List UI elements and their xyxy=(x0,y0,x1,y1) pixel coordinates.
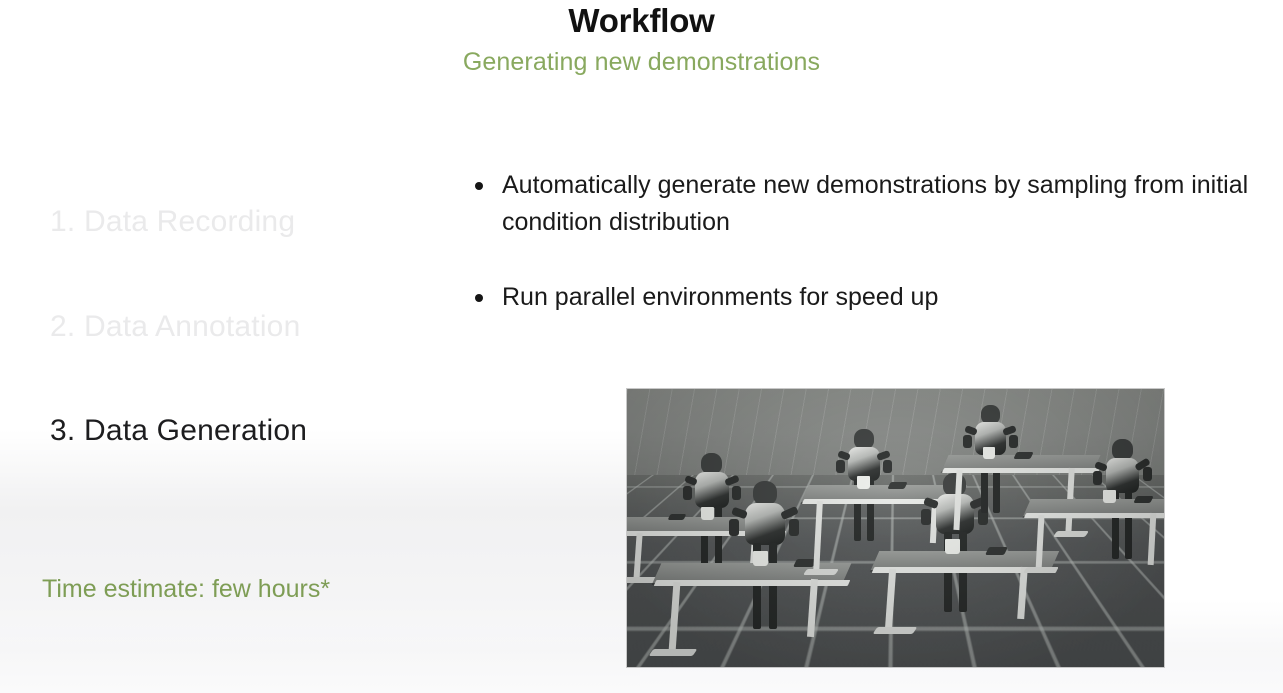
desk-foot xyxy=(649,649,698,656)
bullet-text: Automatically generate new demonstration… xyxy=(502,171,1248,236)
desk-leg xyxy=(807,579,818,637)
bullet-dot-icon xyxy=(475,294,483,302)
desk-leg xyxy=(813,501,823,573)
workflow-step-data-recording[interactable]: 1. Data Recording xyxy=(50,205,295,239)
slide-root: Workflow Generating new demonstrations 1… xyxy=(0,0,1283,693)
robot-forearm-left xyxy=(683,486,692,500)
object-cup xyxy=(983,447,995,459)
robot-head xyxy=(1112,439,1133,460)
robot-forearm-left xyxy=(1093,471,1102,485)
background-wash xyxy=(0,430,640,693)
object-cup xyxy=(753,551,768,566)
object-cup xyxy=(1103,490,1116,503)
robot-head xyxy=(753,481,777,505)
robot-leg-right xyxy=(769,543,777,629)
workflow-step-data-annotation[interactable]: 2. Data Annotation xyxy=(50,310,300,344)
desk-leg xyxy=(1148,513,1157,565)
robot-forearm-left xyxy=(729,519,739,536)
robot-forearm-right xyxy=(883,460,892,473)
page-subtitle: Generating new demonstrations xyxy=(0,48,1283,77)
desk-foot xyxy=(873,627,918,634)
simulation-figure xyxy=(627,389,1164,667)
time-estimate-label: Time estimate: few hours* xyxy=(42,575,330,604)
desk-leg xyxy=(633,533,642,581)
robot-torso xyxy=(745,503,785,545)
desk-foot xyxy=(1023,567,1059,573)
robot-forearm-right xyxy=(1009,435,1018,448)
desk-foot xyxy=(803,569,839,575)
desk-leg xyxy=(1036,515,1045,571)
desk-leg xyxy=(953,470,962,530)
robot-forearm-left xyxy=(963,435,972,448)
robot-head xyxy=(701,453,722,474)
page-title: Workflow xyxy=(0,2,1283,40)
robot-head xyxy=(854,429,874,449)
robot-torso xyxy=(1106,458,1139,493)
bullet-dot-icon xyxy=(475,182,483,190)
robot-forearm-right xyxy=(1143,467,1152,481)
bullet-text: Run parallel environments for speed up xyxy=(502,283,938,311)
simulation-scene xyxy=(627,389,1164,667)
bullet-item: Automatically generate new demonstration… xyxy=(473,167,1273,241)
desk-edge xyxy=(1024,513,1164,518)
robot-torso xyxy=(695,472,729,508)
robot-forearm-left xyxy=(921,509,931,525)
robot-workstation xyxy=(1027,461,1164,601)
bullet-item: Run parallel environments for speed up xyxy=(473,279,1273,316)
object-cup xyxy=(857,476,870,489)
desk-leg xyxy=(885,569,896,631)
robot-forearm-right xyxy=(789,519,799,536)
desk-leg xyxy=(669,582,681,652)
bullet-list: Automatically generate new demonstration… xyxy=(473,167,1273,354)
robot-forearm-left xyxy=(836,460,845,473)
workflow-step-data-generation[interactable]: 3. Data Generation xyxy=(50,414,307,448)
